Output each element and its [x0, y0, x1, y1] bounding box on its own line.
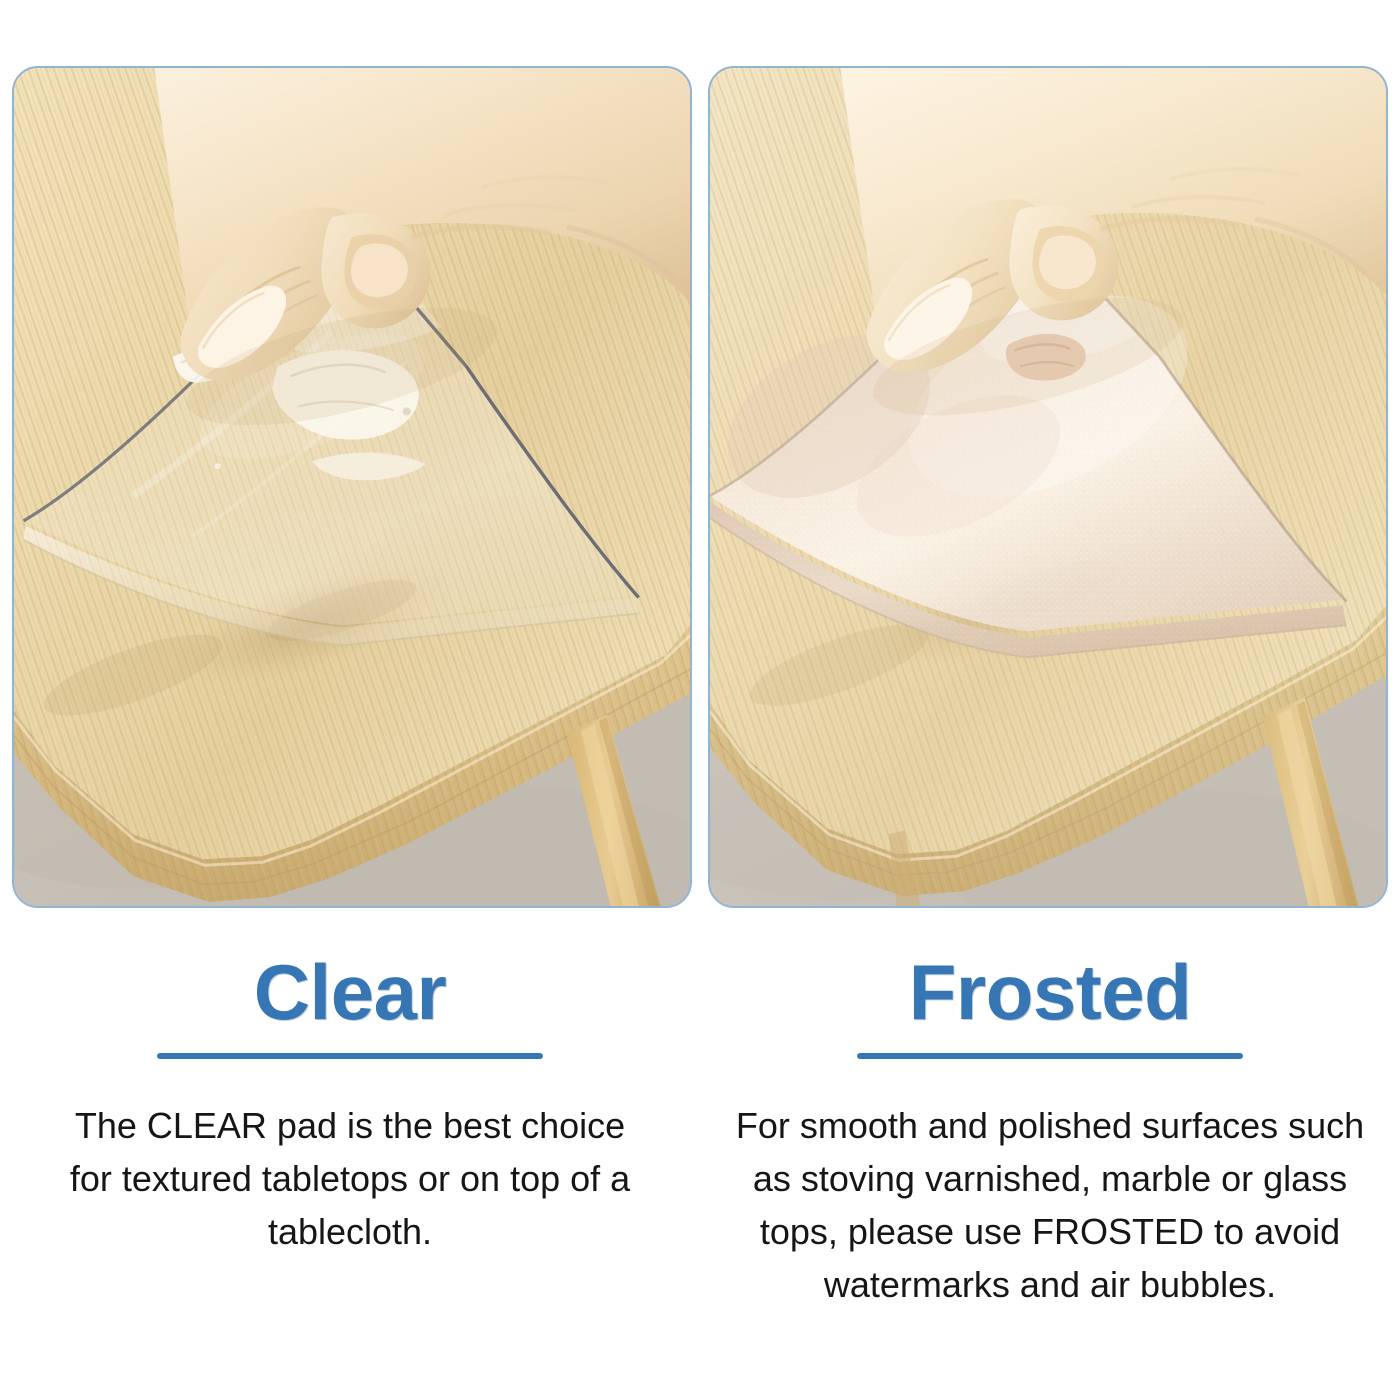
heading-frosted: Frosted	[700, 948, 1400, 1036]
caption-frosted: Frosted For smooth and polished surfaces…	[700, 948, 1400, 1311]
photo-frosted-illustration	[710, 68, 1386, 906]
product-comparison-board: Clear The CLEAR pad is the best choice f…	[0, 0, 1400, 1384]
comparison-columns: Clear The CLEAR pad is the best choice f…	[0, 0, 1400, 1384]
heading-clear: Clear	[0, 948, 700, 1036]
caption-clear: Clear The CLEAR pad is the best choice f…	[0, 948, 700, 1258]
rule-frosted	[857, 1053, 1243, 1059]
description-frosted: For smooth and polished surfaces such as…	[720, 1099, 1380, 1311]
panel-frosted: Frosted For smooth and polished surfaces…	[700, 0, 1400, 1384]
photo-clear	[12, 66, 692, 908]
photo-clear-illustration	[14, 68, 690, 906]
description-clear: The CLEAR pad is the best choice for tex…	[50, 1099, 650, 1258]
panel-clear: Clear The CLEAR pad is the best choice f…	[0, 0, 700, 1384]
photo-frosted	[708, 66, 1388, 908]
rule-clear	[157, 1053, 543, 1059]
